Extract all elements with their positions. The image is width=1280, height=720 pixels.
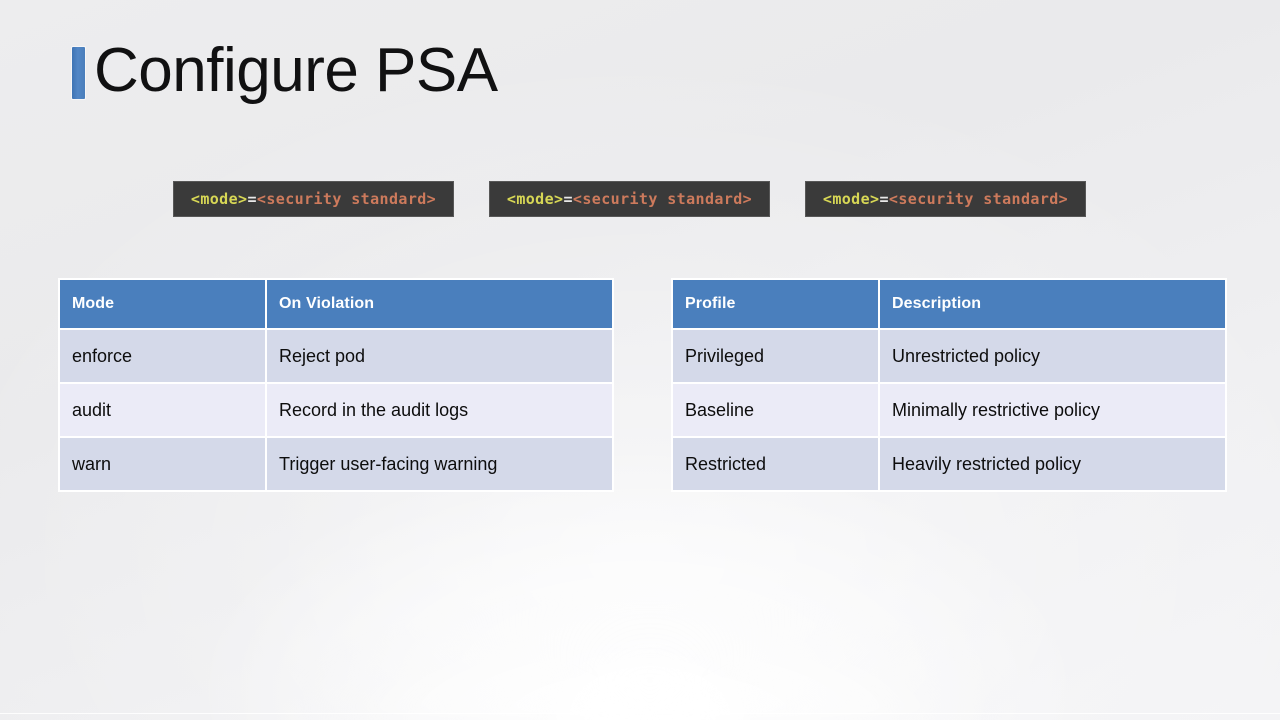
cell-mode: warn <box>60 438 265 490</box>
table-row: Privileged Unrestricted policy <box>673 330 1225 382</box>
profiles-table-body: Privileged Unrestricted policy Baseline … <box>673 330 1225 490</box>
table-row: enforce Reject pod <box>60 330 612 382</box>
table-row: audit Record in the audit logs <box>60 384 612 436</box>
table-row: warn Trigger user-facing warning <box>60 438 612 490</box>
table-row: Restricted Heavily restricted policy <box>673 438 1225 490</box>
code-badge-2: <mode>=<security standard> <box>489 181 770 217</box>
profiles-table-head: Profile Description <box>673 280 1225 328</box>
table-header-row: Mode On Violation <box>60 280 612 328</box>
code-badge-group: <mode>=<security standard> <mode>=<secur… <box>0 181 1280 217</box>
column-header-on-violation: On Violation <box>267 280 612 328</box>
profiles-table: Profile Description Privileged Unrestric… <box>671 278 1227 492</box>
code-token-mode: <mode> <box>507 190 564 208</box>
cell-description: Heavily restricted policy <box>880 438 1225 490</box>
bottom-cloud-glow <box>540 648 760 720</box>
cell-on-violation: Reject pod <box>267 330 612 382</box>
page-title: Configure PSA <box>72 40 498 102</box>
column-header-description: Description <box>880 280 1225 328</box>
bottom-glow-wide <box>300 600 1000 720</box>
cell-on-violation: Trigger user-facing warning <box>267 438 612 490</box>
table-row: Baseline Minimally restrictive policy <box>673 384 1225 436</box>
table-header-row: Profile Description <box>673 280 1225 328</box>
code-token-standard: <security standard> <box>257 190 436 208</box>
modes-table: Mode On Violation enforce Reject pod aud… <box>58 278 614 492</box>
page-title-text: Configure PSA <box>94 40 498 102</box>
code-token-mode: <mode> <box>823 190 880 208</box>
cell-description: Unrestricted policy <box>880 330 1225 382</box>
cell-profile: Baseline <box>673 384 878 436</box>
code-token-equals: = <box>247 190 256 208</box>
code-token-standard: <security standard> <box>889 190 1068 208</box>
cell-profile: Privileged <box>673 330 878 382</box>
cell-profile: Restricted <box>673 438 878 490</box>
code-badge-3: <mode>=<security standard> <box>805 181 1086 217</box>
code-token-equals: = <box>563 190 572 208</box>
code-token-equals: = <box>879 190 888 208</box>
code-token-mode: <mode> <box>191 190 248 208</box>
cell-mode: audit <box>60 384 265 436</box>
code-badge-1: <mode>=<security standard> <box>173 181 454 217</box>
code-token-standard: <security standard> <box>573 190 752 208</box>
slide-canvas: Configure PSA <mode>=<security standard>… <box>0 0 1280 720</box>
modes-table-head: Mode On Violation <box>60 280 612 328</box>
bottom-divider <box>0 713 1280 714</box>
cell-mode: enforce <box>60 330 265 382</box>
modes-table-body: enforce Reject pod audit Record in the a… <box>60 330 612 490</box>
column-header-profile: Profile <box>673 280 878 328</box>
cell-on-violation: Record in the audit logs <box>267 384 612 436</box>
column-header-mode: Mode <box>60 280 265 328</box>
title-accent-bar <box>72 47 85 99</box>
cell-description: Minimally restrictive policy <box>880 384 1225 436</box>
